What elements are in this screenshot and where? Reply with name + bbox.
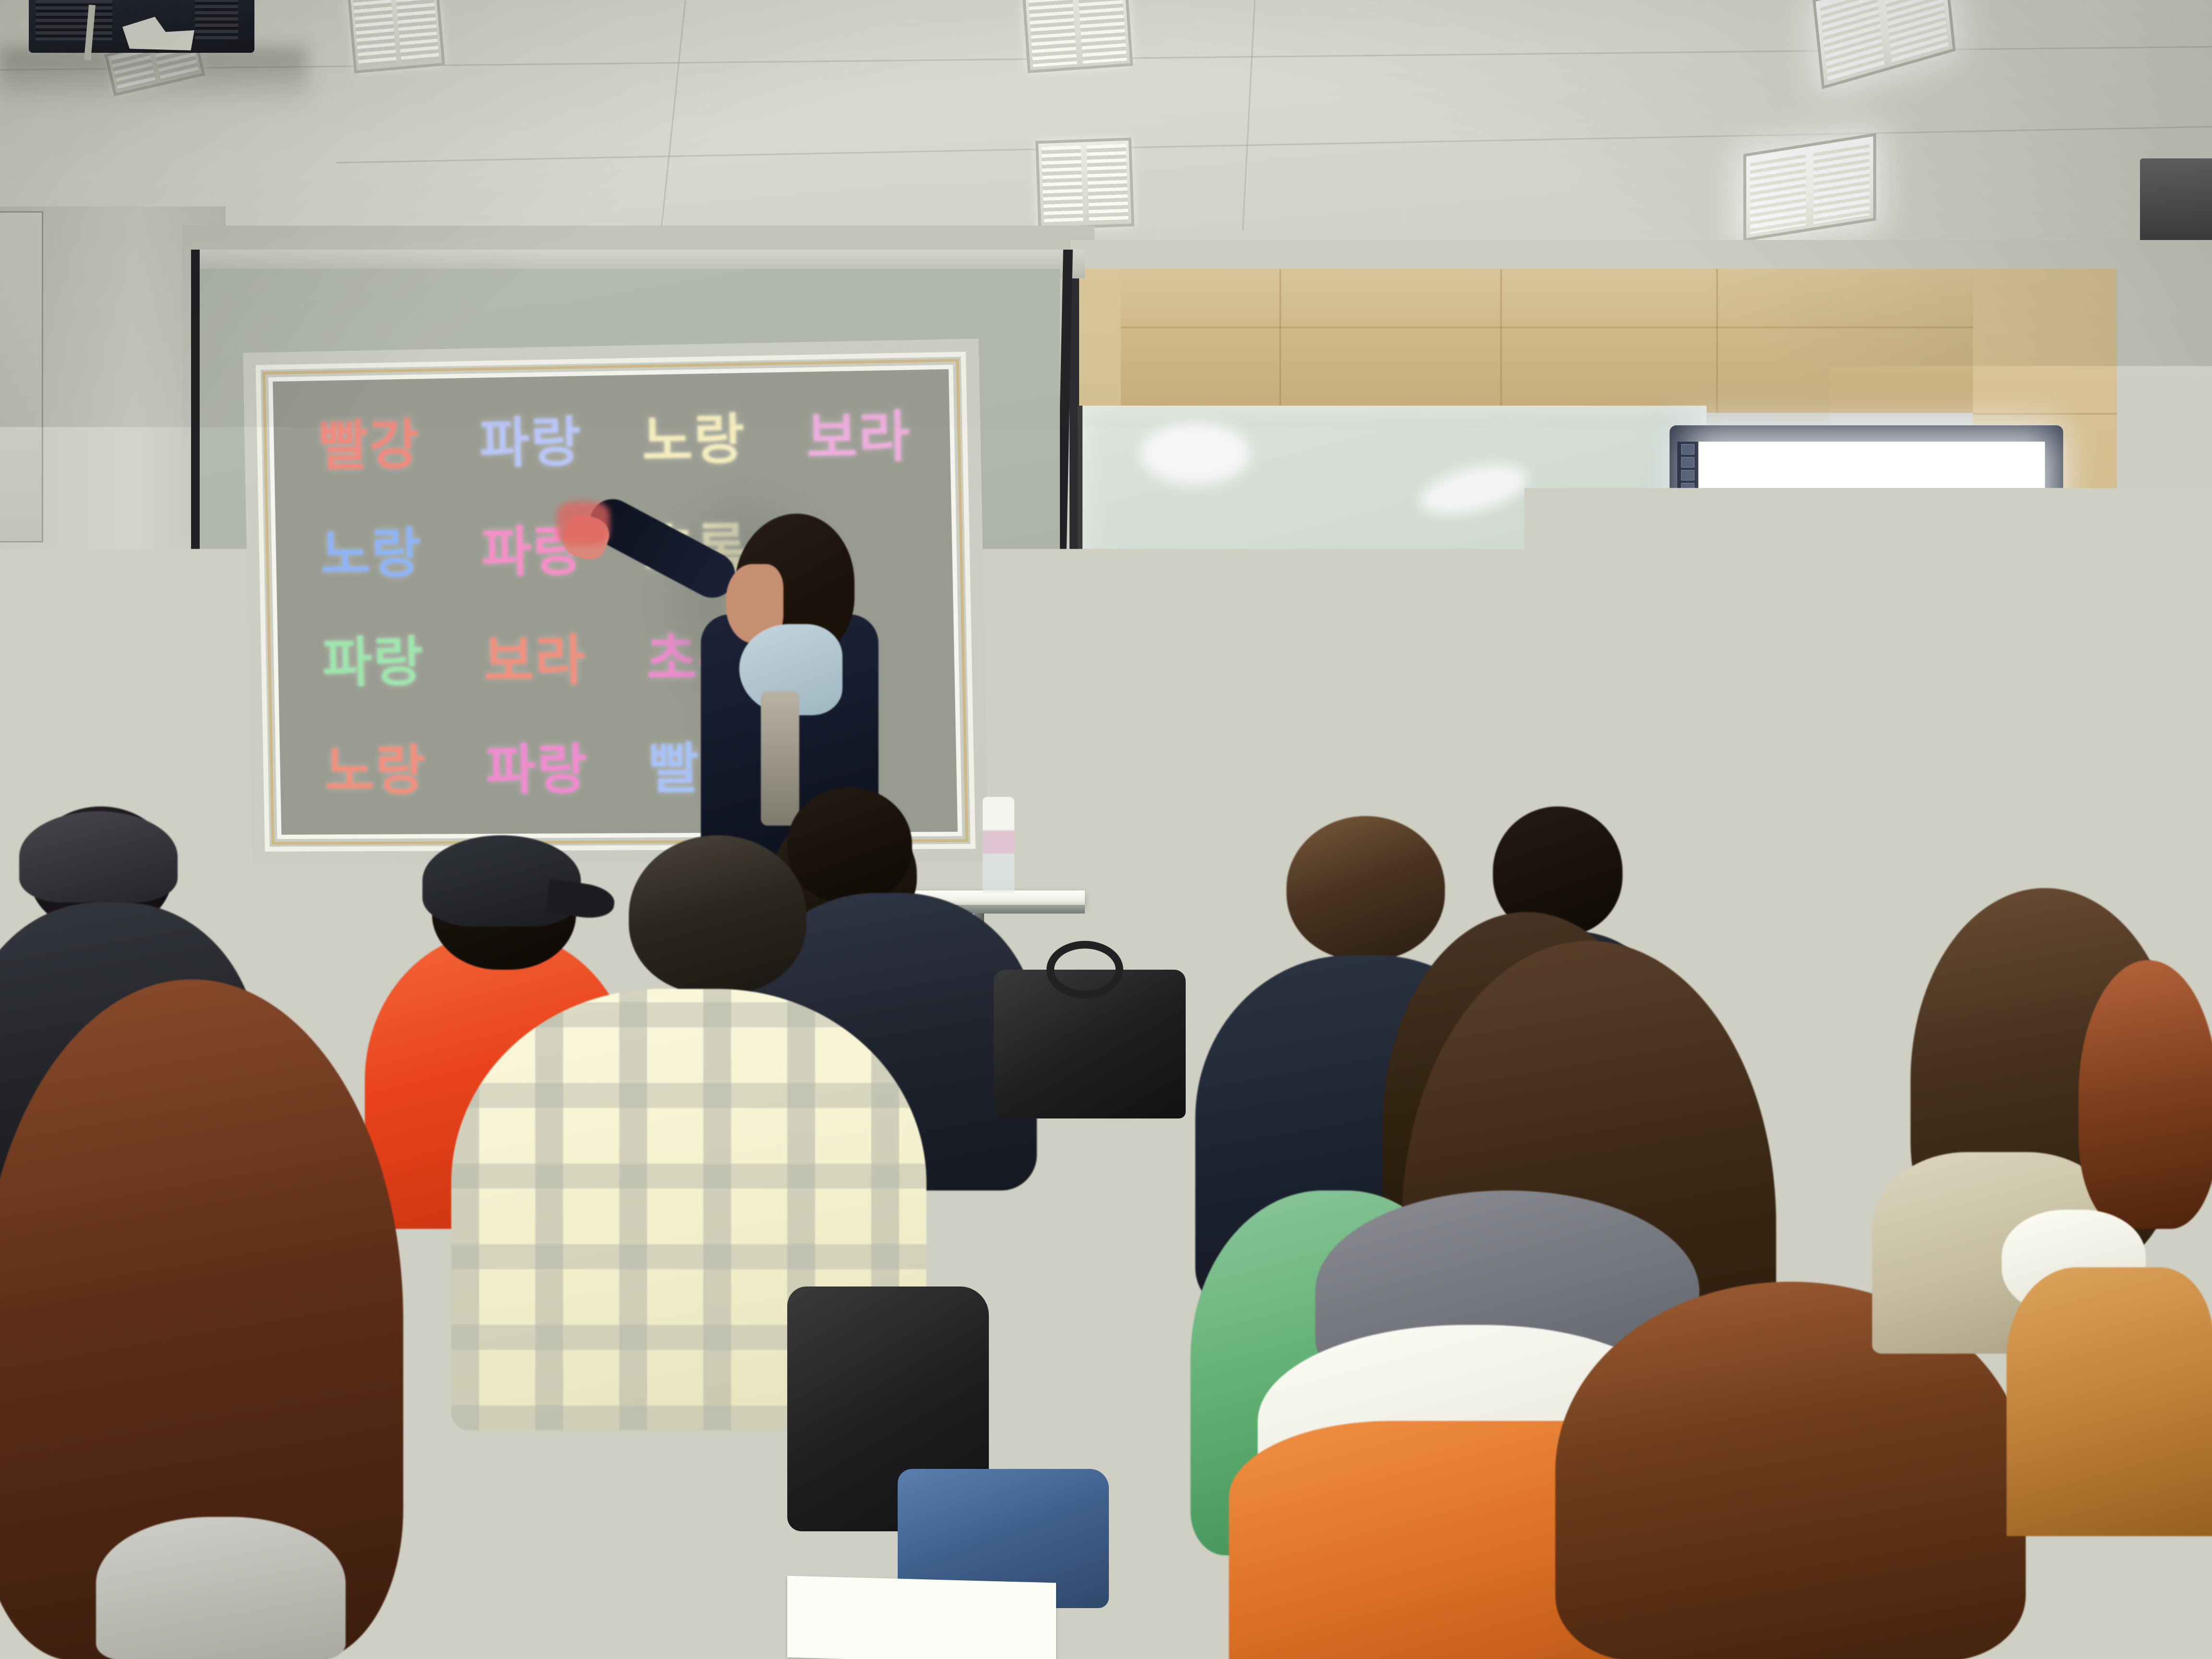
stroop-word: 파랑 <box>456 742 619 797</box>
classroom-photo: 빨강 파랑 노랑 보라 노랑 파랑 초록 파랑 보라 초록 노랑 파랑 빨강 <box>0 0 2212 1659</box>
ceiling-light-fixture <box>347 0 445 73</box>
stroop-word: 파랑 <box>292 635 454 690</box>
lectern-power-led <box>1752 1006 1763 1018</box>
stroop-word: 빨강 <box>289 418 450 474</box>
tv-side-button[interactable] <box>1681 444 1695 455</box>
hair <box>2079 960 2212 1229</box>
stroop-word: 노랑 <box>295 744 457 799</box>
backpack-strap <box>1046 941 1123 998</box>
tv-brand-label: XCANVAS <box>1670 668 2063 681</box>
projection-screen: 빨강 파랑 노랑 보라 노랑 파랑 초록 파랑 보라 초록 노랑 파랑 빨강 <box>200 269 1060 931</box>
stroop-word: 보라 <box>775 409 942 467</box>
stroop-word: 노랑 <box>290 526 452 582</box>
tissue-box <box>634 1510 773 1611</box>
tv-side-button[interactable] <box>1681 496 1695 506</box>
tv-side-button[interactable] <box>1681 457 1695 468</box>
lecturer-lanyard <box>761 691 799 826</box>
projector-shadow <box>0 48 307 106</box>
stroop-word: 보라 <box>453 633 616 689</box>
paper-sheet <box>787 1576 1056 1659</box>
stroop-word: 파랑 <box>449 415 613 471</box>
whiteboard <box>1078 406 1707 852</box>
ceiling-light-fixture <box>1035 138 1134 230</box>
stroop-word: 노랑 <box>612 412 777 469</box>
flat-cap <box>19 811 178 902</box>
glass-partition-rail <box>2112 912 2212 919</box>
water-bottle <box>983 797 1014 893</box>
ceiling-light-fixture <box>1022 0 1133 73</box>
tv-screen <box>1696 442 2045 648</box>
screen-edge-left <box>191 250 200 936</box>
wood-paneling-upper <box>1078 269 1975 413</box>
tv-side-button[interactable] <box>1681 483 1695 493</box>
tv-energy-badge <box>2025 672 2055 683</box>
tissue-box <box>1109 1564 1243 1659</box>
head <box>629 835 806 994</box>
chair-barcode-label <box>581 1443 640 1484</box>
coca-cola-can <box>960 1219 994 1282</box>
tv-side-button[interactable] <box>1681 509 1695 519</box>
tv-side-button[interactable] <box>1681 470 1695 481</box>
tan-jacket <box>2007 1267 2212 1536</box>
lecturer-pointer <box>557 502 610 545</box>
tv-taskbar <box>1696 637 2045 648</box>
window-blind <box>0 211 43 542</box>
lectern-handle[interactable] <box>1734 1032 1772 1043</box>
wall-television: XCANVAS <box>1670 425 2063 694</box>
head <box>787 787 912 902</box>
head <box>1286 816 1445 960</box>
tv-side-button-panel[interactable] <box>1677 442 1698 610</box>
